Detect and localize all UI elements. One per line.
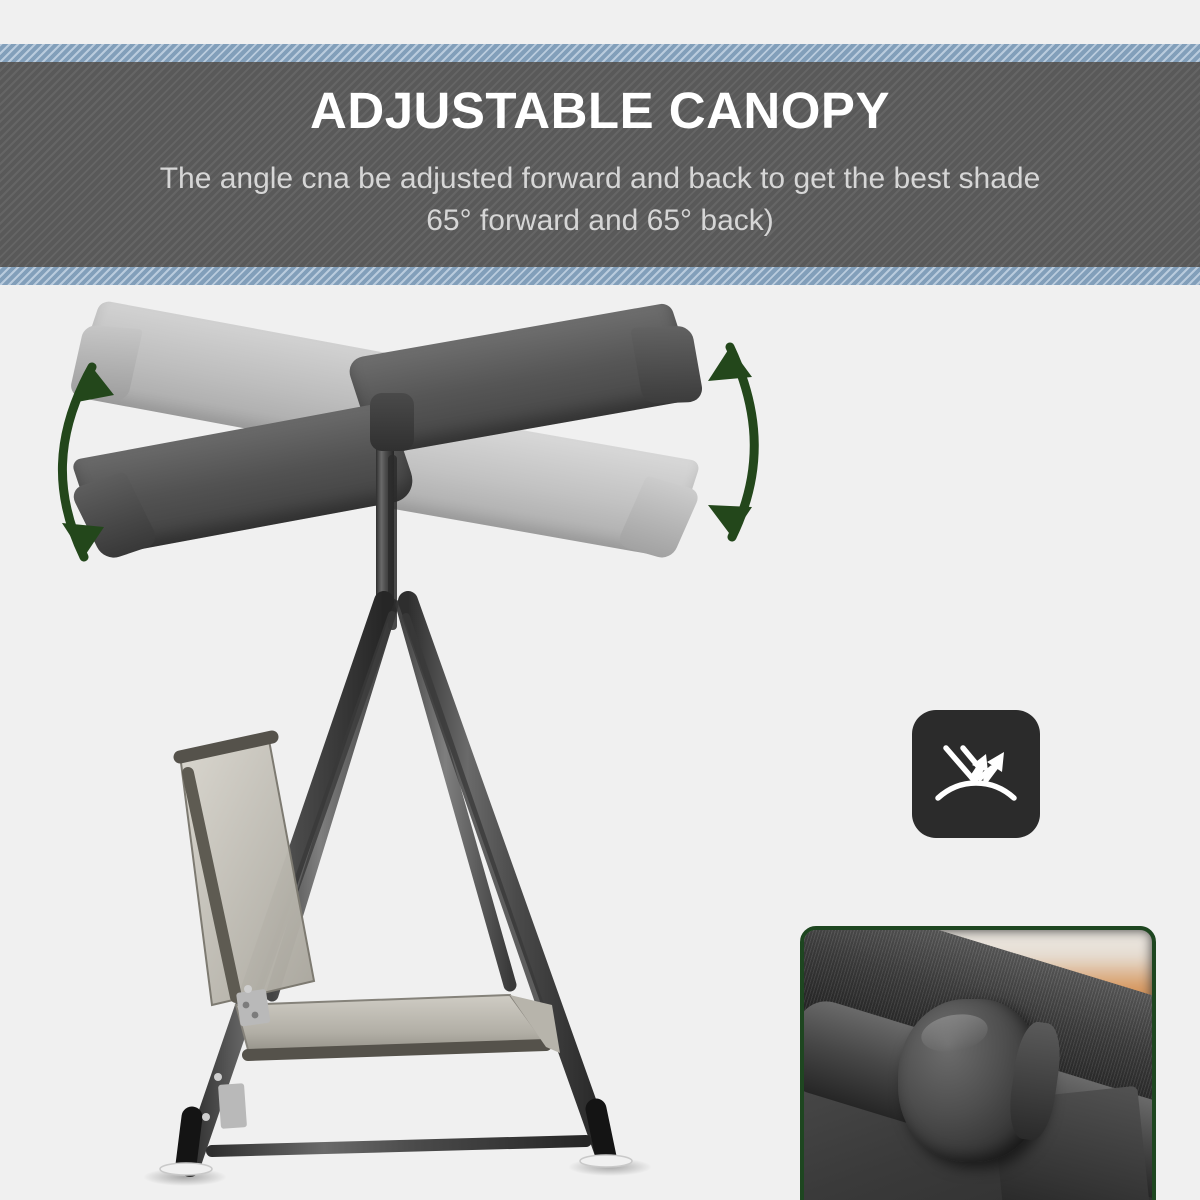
swing-illustration (40, 305, 780, 1195)
page-title: ADJUSTABLE CANOPY (310, 84, 890, 138)
arrow-right-head-up (708, 347, 752, 381)
arrow-right-head-down (708, 505, 752, 537)
adjustment-knob (898, 999, 1044, 1162)
banner-subtitle-line-1: The angle cna be adjusted forward and ba… (160, 158, 1041, 201)
banner-bottom-stripe (0, 267, 1200, 285)
infographic-canvas: ADJUSTABLE CANOPY The angle cna be adjus… (0, 0, 1200, 1200)
header-banner: ADJUSTABLE CANOPY The angle cna be adjus… (0, 44, 1200, 285)
uv-ray-reflection-icon (930, 728, 1022, 820)
detail-photo-panel (800, 926, 1156, 1200)
banner-top-stripe (0, 44, 1200, 62)
banner-subtitle-line-2: 65° forward and 65° back) (160, 200, 1041, 243)
knob-closeup-photo (804, 930, 1152, 1200)
arrow-left-head-down (62, 523, 104, 557)
banner-subtitle: The angle cna be adjusted forward and ba… (160, 158, 1041, 243)
uv-protection-badge (912, 710, 1040, 838)
product-scene: Adjustable Angle (0, 285, 1200, 1200)
canopy-pivot-hub (370, 393, 414, 451)
